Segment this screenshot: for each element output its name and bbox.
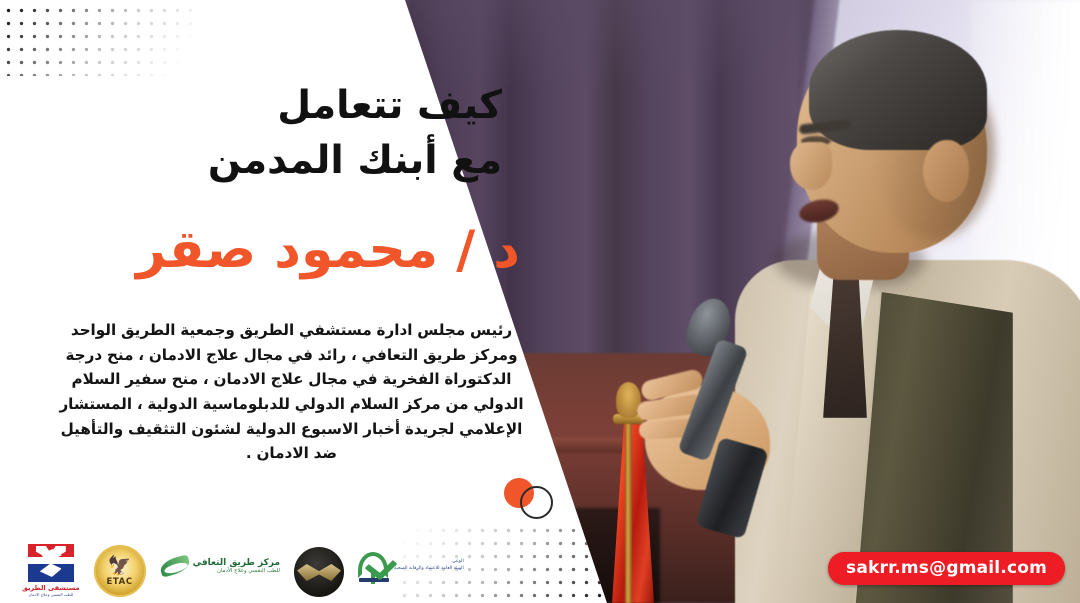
- logo-title: مركز طريق التعافي: [193, 558, 280, 568]
- page-title: كيف تتعامل مع أبنك المدمن: [72, 78, 502, 189]
- heart-base-icon: [359, 578, 389, 582]
- logo-subtitle: الهيئة العامة للاعتماد والرقابة الصحية: [394, 566, 464, 573]
- poster-canvas: كيف تتعامل مع أبنك المدمن د / محمود صقر …: [0, 0, 1080, 603]
- logo-recovery-road-center: مركز طريق التعافي للطب النفسي وعلاج الأد…: [160, 535, 280, 597]
- ear: [923, 140, 969, 202]
- hospital-shield-icon: [28, 544, 74, 582]
- logo-text-block: الوعي الهيئة العامة للاعتماد والرقابة ال…: [394, 559, 464, 573]
- logo-eagle-badge: [294, 535, 344, 597]
- outline-circle-icon: [520, 486, 553, 519]
- nose: [790, 142, 832, 190]
- logo-title: ETAC: [107, 577, 133, 587]
- doctor-name: د / محمود صقر: [70, 222, 520, 279]
- logo-text-block: مركز طريق التعافي للطب النفسي وعلاج الأد…: [193, 558, 280, 574]
- eagle-wings-icon: [297, 564, 341, 581]
- logo-subtitle: للطب النفسي وعلاج الأدمان: [193, 568, 280, 574]
- green-leaf-icon: [160, 553, 190, 579]
- speaker-figure: [585, 30, 1080, 603]
- biography-text: رئيس مجلس ادارة مستشفي الطريق وجمعية الط…: [59, 318, 524, 466]
- eagle-icon: 🦅: [108, 557, 132, 576]
- email-badge[interactable]: sakrr.ms@gmail.com: [828, 552, 1065, 585]
- dark-badge-icon: [294, 547, 344, 597]
- halftone-dots-top-left-icon: [2, 4, 192, 76]
- hospital-road-icon: [40, 549, 62, 577]
- hair: [809, 30, 987, 150]
- logo-strip: مستشفى الطريق للطب النفسي وعلاج الادمان …: [22, 531, 464, 597]
- heart-check-icon: [358, 550, 392, 582]
- logo-etac: 🦅 ETAC: [94, 535, 146, 597]
- gold-seal-icon: 🦅 ETAC: [94, 545, 146, 597]
- headline-line-2: مع أبنك المدمن: [72, 133, 502, 188]
- logo-heart-check: الوعي الهيئة العامة للاعتماد والرقابة ال…: [358, 535, 464, 597]
- logo-el-tareek-hospital: مستشفى الطريق للطب النفسي وعلاج الادمان: [22, 535, 80, 597]
- logo-title: الوعي: [394, 559, 464, 566]
- logo-title: مستشفى الطريق: [22, 584, 80, 592]
- headline-line-1: كيف تتعامل: [277, 83, 502, 128]
- logo-subtitle: للطب النفسي وعلاج الادمان: [29, 592, 73, 597]
